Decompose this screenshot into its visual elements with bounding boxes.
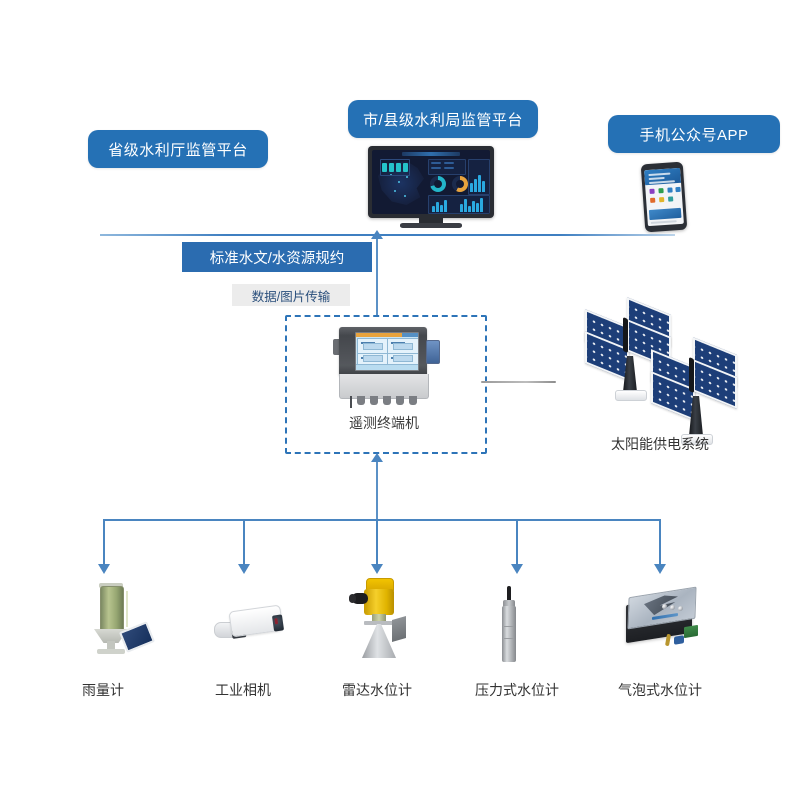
app-banner xyxy=(649,208,682,220)
sensor-label-radar-level: 雷达水位计 xyxy=(307,680,447,700)
uplink-line xyxy=(376,236,378,315)
diagram-canvas: 省级水利厅监管平台 市/县级水利局监管平台 手机公众号APP xyxy=(0,0,800,800)
data-transfer-label: 数据/图片传输 xyxy=(232,284,350,306)
dashboard-title-bar xyxy=(402,152,460,156)
downlink-arrow-head xyxy=(371,453,383,462)
protocol-label: 标准水文/水资源规约 xyxy=(182,242,372,272)
rtu-lcd-screen xyxy=(355,332,419,371)
downlink-line xyxy=(376,462,378,520)
drop-line-pressure-level xyxy=(516,520,518,565)
rtu-wire xyxy=(350,396,352,408)
app-header xyxy=(644,168,681,185)
drop-line-radar-level xyxy=(376,520,378,565)
sensor-bus-line xyxy=(103,519,661,521)
radar-horn-antenna xyxy=(362,624,396,658)
phone-screen xyxy=(644,168,684,226)
monitor-bezel xyxy=(368,146,494,218)
smartphone-icon xyxy=(643,163,685,231)
camera-icon xyxy=(212,604,294,652)
monitor-base xyxy=(400,223,462,228)
rtu-upper-housing xyxy=(339,327,427,375)
drop-arrow-pressure-level xyxy=(511,564,523,574)
sensor-label-pressure-level: 压力式水位计 xyxy=(447,680,587,700)
rain-gauge-icon xyxy=(82,586,154,658)
platform-mobile-app[interactable]: 手机公众号APP xyxy=(608,115,780,153)
monitor-icon xyxy=(368,146,494,230)
drop-arrow-bubble-level xyxy=(654,564,666,574)
uplink-bus-line xyxy=(100,234,675,236)
sensor-label-rain-gauge: 雨量计 xyxy=(33,680,173,700)
pressure-probe-icon xyxy=(494,586,524,662)
drop-arrow-radar-level xyxy=(371,564,383,574)
rain-gauge-solar-panel xyxy=(119,621,155,653)
drop-arrow-camera xyxy=(238,564,250,574)
dashboard-donut-2 xyxy=(452,176,468,192)
platform-city-county[interactable]: 市/县级水利局监管平台 xyxy=(348,100,538,138)
drop-line-camera xyxy=(243,520,245,565)
uplink-arrow-head xyxy=(371,230,383,239)
sensor-label-bubble-level: 气泡式水位计 xyxy=(590,680,730,700)
rtu-connector-port xyxy=(426,340,440,364)
rtu-device-icon xyxy=(333,327,441,407)
dashboard-screen xyxy=(372,150,490,214)
platform-provincial[interactable]: 省级水利厅监管平台 xyxy=(88,130,268,168)
radar-level-gauge-icon xyxy=(348,578,410,662)
drop-line-rain-gauge xyxy=(103,520,105,565)
rtu-label: 遥测终端机 xyxy=(285,413,483,433)
bubble-level-gauge-icon xyxy=(622,588,704,654)
sensor-label-camera: 工业相机 xyxy=(173,680,313,700)
drop-line-bubble-level xyxy=(659,520,661,565)
dashboard-donut-1 xyxy=(430,176,446,192)
antenna-icon xyxy=(481,381,556,383)
solar-power-label: 太阳能供电系统 xyxy=(585,434,735,454)
drop-arrow-rain-gauge xyxy=(98,564,110,574)
